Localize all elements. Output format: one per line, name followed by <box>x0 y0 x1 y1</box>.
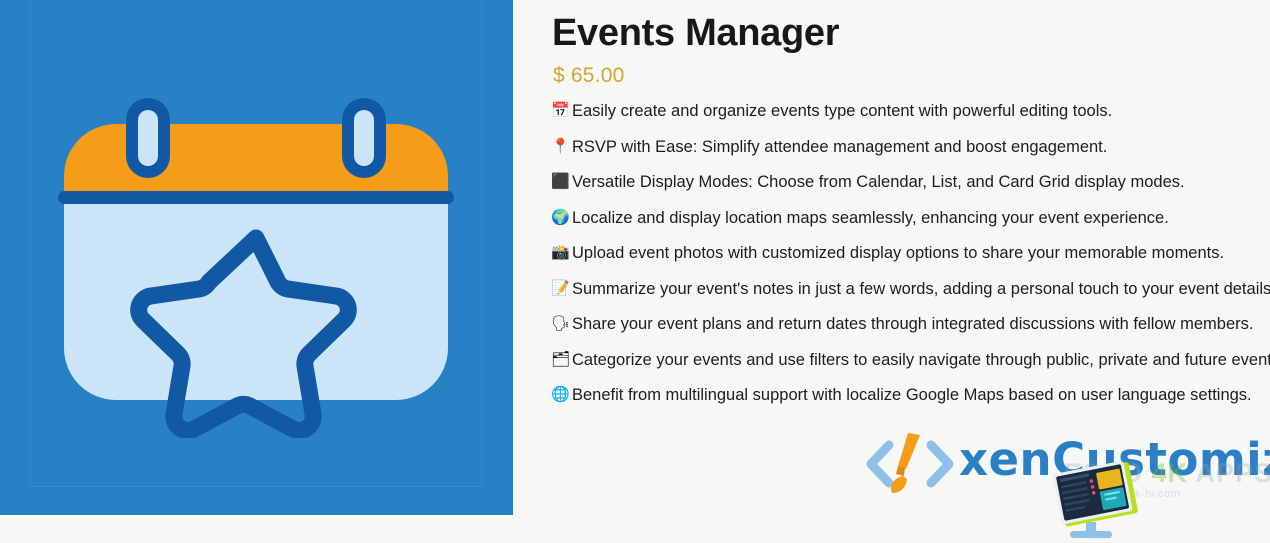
logo-wordmark: xenCustomize <box>959 433 1270 486</box>
product-page: Events Manager $ 65.00 📅 Easily create a… <box>0 0 1270 515</box>
round-pushpin-icon: 📍 <box>551 134 572 160</box>
camera-flash-icon: 📸 <box>551 240 572 266</box>
feature-text: Benefit from multilingual support with l… <box>572 382 1260 408</box>
content-panel: Events Manager $ 65.00 📅 Easily create a… <box>513 0 1270 515</box>
list-item: 📍 RSVP with Ease: Simplify attendee mana… <box>551 134 1260 170</box>
list-item: ⬛ Versatile Display Modes: Choose from C… <box>551 169 1260 205</box>
watermark-url: www.esso4k-tv.com <box>1074 488 1181 500</box>
list-item: 🌍 Localize and display location maps sea… <box>551 205 1260 241</box>
feature-text: Easily create and organize events type c… <box>572 98 1260 124</box>
code-brackets-paintbrush-icon <box>862 433 962 495</box>
list-item: 📝 Summarize your event's notes in just a… <box>551 276 1260 312</box>
list-item: 📸 Upload event photos with customized di… <box>551 240 1260 276</box>
feature-text: Versatile Display Modes: Choose from Cal… <box>572 169 1260 195</box>
memo-icon: 📝 <box>551 276 572 302</box>
product-price: $ 65.00 <box>553 64 624 88</box>
hero-panel <box>0 0 513 515</box>
list-item: 🌐 Benefit from multilingual support with… <box>551 382 1260 418</box>
calendar-icon: 📅 <box>551 98 572 124</box>
list-item: 🗣 Share your event plans and return date… <box>551 311 1260 347</box>
black-square-icon: ⬛ <box>551 169 572 195</box>
calendar-star-icon <box>56 98 456 438</box>
speaking-head-icon: 🗣 <box>551 311 572 337</box>
feature-text: Summarize your event's notes in just a f… <box>572 276 1270 302</box>
page-title: Events Manager <box>552 12 839 55</box>
feature-text: Categorize your events and use filters t… <box>572 347 1270 373</box>
globe-meridians-icon: 🌐 <box>551 382 572 408</box>
list-item: 🗂 Categorize your events and use filters… <box>551 347 1260 383</box>
brand-logo: xenCustomize ESSO 4K APPS www.esso4k-tv.… <box>862 425 1242 515</box>
feature-text: RSVP with Ease: Simplify attendee manage… <box>572 134 1260 160</box>
feature-text: Localize and display location maps seaml… <box>572 205 1260 231</box>
feature-list: 📅 Easily create and organize events type… <box>551 98 1260 418</box>
globe-americas-icon: 🌍 <box>551 205 572 231</box>
feature-text: Upload event photos with customized disp… <box>572 240 1260 266</box>
list-item: 📅 Easily create and organize events type… <box>551 98 1260 134</box>
card-index-dividers-icon: 🗂 <box>551 347 572 373</box>
feature-text: Share your event plans and return dates … <box>572 311 1260 337</box>
